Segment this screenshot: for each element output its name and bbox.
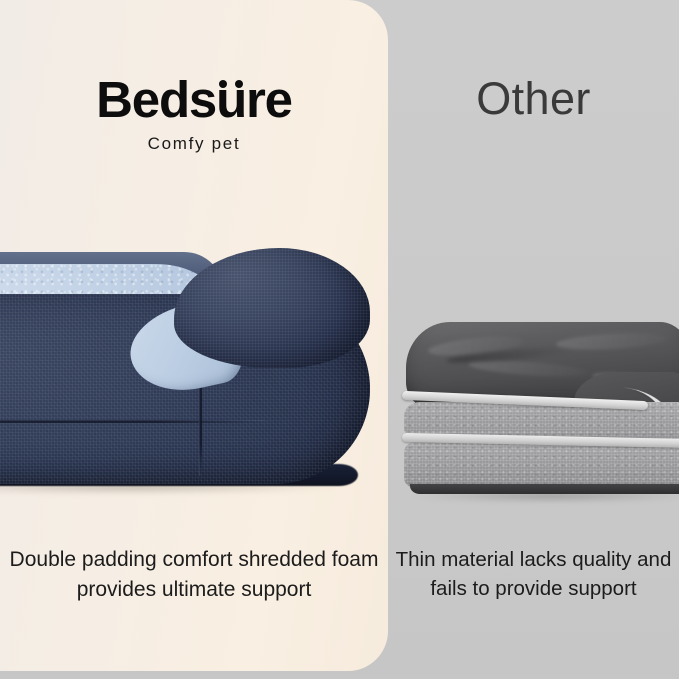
- other-dog-bed-image: [404, 322, 679, 496]
- other-heading: Other: [388, 76, 679, 121]
- bedsure-bed-horizontal-seam: [0, 420, 264, 423]
- other-caption: Thin material lacks quality and fails to…: [392, 545, 675, 603]
- bedsure-brand-block: Bedsure Comfy pet: [0, 74, 388, 154]
- other-heading-block: Other: [388, 76, 679, 121]
- other-bed-lower-linen-block: [404, 442, 679, 488]
- comparison-image: Bedsure Comfy pet Other Double padding c…: [0, 0, 679, 679]
- other-bed-linen-texture: [404, 442, 679, 488]
- bedsure-logo-u-with-dots: u: [216, 74, 246, 125]
- bedsure-caption: Double padding comfort shredded foam pro…: [8, 545, 380, 605]
- bedsure-logo-part-1: Beds: [96, 71, 216, 128]
- bedsure-dog-bed-image: [0, 248, 370, 490]
- bedsure-logo-wordmark: Bedsure: [96, 74, 292, 125]
- bedsure-tagline: Comfy pet: [0, 134, 388, 154]
- bedsure-logo-u-letter: u: [216, 71, 246, 128]
- bedsure-logo-part-2: re: [246, 71, 292, 128]
- other-bed-base-strip: [410, 484, 679, 494]
